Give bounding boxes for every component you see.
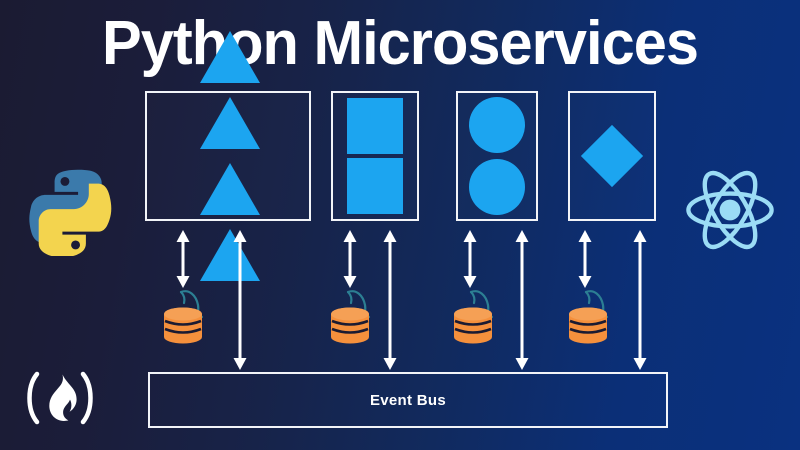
service-box-3[interactable] — [456, 91, 538, 221]
service-4-shapes — [570, 93, 654, 219]
mysql-database-icon[interactable] — [450, 286, 508, 348]
freecodecamp-logo — [18, 366, 102, 430]
triangle-shape — [200, 31, 260, 83]
circle-shape — [469, 159, 525, 215]
service-1-shapes — [147, 93, 313, 219]
react-logo — [678, 158, 782, 262]
circle-shape — [469, 97, 525, 153]
triangle-shape — [200, 163, 260, 215]
arrow-service-3-to-event-bus — [513, 230, 531, 370]
arrow-service-4-to-event-bus — [631, 230, 649, 370]
service-box-2[interactable] — [331, 91, 419, 221]
arrow-service-1-to-event-bus — [231, 230, 249, 370]
service-2-shapes — [333, 93, 417, 219]
python-logo — [20, 162, 114, 256]
mysql-database-icon[interactable] — [160, 286, 218, 348]
square-shape — [347, 158, 403, 214]
page-title: Python Microservices — [16, 8, 784, 80]
event-bus-label: Event Bus — [370, 392, 446, 409]
event-bus-box[interactable]: Event Bus — [148, 372, 668, 428]
triangle-shape — [200, 97, 260, 149]
slide-canvas: Python Microservices — [0, 0, 800, 450]
service-3-shapes — [458, 93, 536, 219]
triangle-shape — [200, 229, 260, 281]
arrow-service-2-to-db-2 — [341, 230, 359, 288]
service-box-4[interactable] — [568, 91, 656, 221]
diamond-shape — [581, 125, 643, 187]
mysql-database-icon[interactable] — [565, 286, 623, 348]
arrow-service-4-to-db-4 — [576, 230, 594, 288]
mysql-database-icon[interactable] — [327, 286, 385, 348]
arrow-service-3-to-db-3 — [461, 230, 479, 288]
service-box-1[interactable] — [145, 91, 311, 221]
square-shape — [347, 98, 403, 154]
arrow-service-1-to-db-1 — [174, 230, 192, 288]
